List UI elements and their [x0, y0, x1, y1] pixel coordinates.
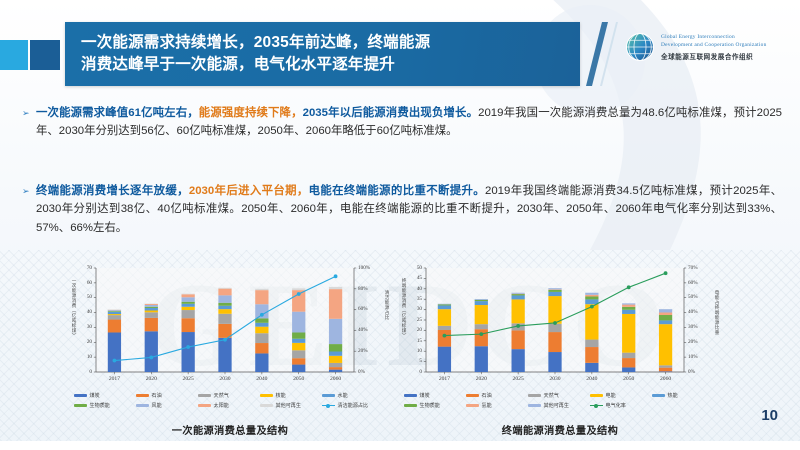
- legend-label: 电气化率: [606, 402, 626, 409]
- legend-swatch: [260, 394, 273, 397]
- legend-swatch: [136, 394, 149, 397]
- legend-label: 电能: [606, 392, 616, 399]
- x-axis-tick-label: 2017: [98, 376, 130, 382]
- y-axis-tick-label: 10: [400, 348, 422, 354]
- chart-plot-area: 051015202530354045500%10%20%30%40%50%60%…: [400, 262, 720, 387]
- footer-bar: [0, 441, 800, 450]
- bar-segment: [292, 339, 305, 343]
- bar-segment: [145, 318, 158, 331]
- bar-segment: [622, 303, 635, 304]
- line-marker: [260, 313, 264, 317]
- x-axis-tick-label: 2017: [428, 376, 460, 382]
- line-marker: [553, 321, 557, 325]
- y2-axis-tick-label: 40%: [688, 309, 708, 315]
- x-axis-tick-label: 2020: [465, 376, 497, 382]
- bar-segment: [475, 324, 488, 329]
- legend-label: 煤炭: [420, 392, 430, 399]
- bar-segment: [622, 353, 635, 358]
- legend-item[interactable]: 氢能: [466, 402, 528, 409]
- x-axis-tick-label: 2060: [320, 376, 352, 382]
- bar-segment: [622, 358, 635, 367]
- bar-segment: [145, 307, 158, 308]
- bar-segment: [329, 344, 342, 351]
- bar-segment: [438, 305, 451, 309]
- bar-segment: [292, 332, 305, 338]
- bar-segment: [622, 310, 635, 314]
- logo-english-line-1: Global Energy Interconnection: [661, 33, 767, 41]
- bar-segment: [108, 314, 121, 315]
- bar-segment: [145, 308, 158, 311]
- bar-segment: [512, 295, 525, 299]
- y-axis-tick-label: 50: [400, 265, 422, 271]
- bullet-arrow-icon: ➢: [22, 182, 36, 237]
- y-axis-tick-label: 10: [70, 354, 92, 360]
- bar-segment: [218, 303, 231, 306]
- line-marker: [443, 334, 447, 338]
- bar-segment: [329, 363, 342, 367]
- bar-segment: [438, 304, 451, 305]
- bar-segment: [218, 289, 231, 296]
- bar-segment: [585, 296, 598, 299]
- y2-axis-tick-label: 80%: [358, 286, 378, 292]
- bar-segment: [145, 305, 158, 307]
- y2-axis-tick-label: 60%: [688, 280, 708, 286]
- legend-label: 煤炭: [90, 392, 100, 399]
- y2-axis-tick-label: 70%: [688, 265, 708, 271]
- line-marker: [186, 345, 190, 349]
- legend-swatch: [198, 404, 211, 407]
- legend-swatch: [466, 404, 479, 407]
- header-accent-square-2: [30, 40, 60, 70]
- bar-segment: [182, 332, 195, 372]
- legend-swatch: [404, 404, 417, 407]
- bar-segment: [218, 324, 231, 338]
- bar-segment: [329, 367, 342, 370]
- bar-segment: [108, 311, 121, 312]
- legend-swatch: [528, 404, 541, 407]
- legend-item[interactable]: 其他可再生: [260, 402, 322, 409]
- chart-caption: 一次能源消费总量及结构: [70, 422, 390, 437]
- bar-segment: [659, 315, 672, 320]
- legend-label: 其他可再生: [276, 402, 301, 409]
- legend-item[interactable]: 水能: [322, 392, 384, 399]
- x-axis-tick-label: 2060: [650, 376, 682, 382]
- bar-segment: [585, 299, 598, 304]
- bar-segment: [182, 294, 195, 295]
- bar-segment: [145, 331, 158, 372]
- legend-swatch: [198, 394, 211, 397]
- legend-item-line[interactable]: 清洁能源占比: [322, 402, 384, 409]
- legend-item[interactable]: 天然气: [198, 392, 260, 399]
- x-axis-tick-label: 2025: [172, 376, 204, 382]
- bullet-2-segment-2: 2030年后进入平台期，: [189, 185, 309, 197]
- x-axis-tick-label: 2050: [283, 376, 315, 382]
- bar-segment: [182, 304, 195, 307]
- legend-item[interactable]: 热能: [652, 392, 714, 399]
- bar-segment: [659, 324, 672, 365]
- slide-root: GEIDCO 一次能源需求持续增长，2035年前达峰，终端能源 消费达峰早于一次…: [0, 0, 800, 450]
- bar-segment: [512, 293, 525, 294]
- chart-final-energy: 051015202530354045500%10%20%30%40%50%60%…: [400, 262, 720, 427]
- bar-segment: [585, 293, 598, 295]
- bar-segment: [292, 358, 305, 364]
- legend-label: 生物质能: [90, 402, 110, 409]
- line-marker: [149, 356, 153, 360]
- bar-segment: [329, 351, 342, 355]
- bar-segment: [218, 314, 231, 324]
- bar-segment: [548, 288, 561, 289]
- legend-label: 风能: [152, 402, 162, 409]
- bullet-2-segment-1: 终端能源消费增长逐年放缓，: [36, 185, 189, 197]
- bar-segment: [255, 289, 268, 290]
- chart-svg: [400, 262, 720, 387]
- bar-segment: [659, 309, 672, 312]
- legend-label: 水能: [338, 392, 348, 399]
- legend-swatch: [74, 394, 87, 397]
- legend-swatch: [260, 404, 273, 407]
- legend-swatch: [590, 394, 603, 397]
- legend-label: 清洁能源占比: [338, 402, 369, 409]
- y2-axis-tick-label: 100%: [358, 265, 378, 271]
- bullet-2-segment-3: 电能在终端能源的比重不断提升。: [309, 185, 485, 197]
- y2-axis-tick-label: 40%: [358, 327, 378, 333]
- bar-segment: [255, 323, 268, 327]
- page-number: 10: [761, 407, 778, 424]
- bar-segment: [512, 349, 525, 372]
- line-marker: [479, 332, 483, 336]
- bar-segment: [182, 318, 195, 332]
- bar-segment: [475, 346, 488, 372]
- chart-legend: 煤炭石油天然气核能水能生物质能风能太阳能其他可再生清洁能源占比: [74, 392, 386, 412]
- bar-segment: [182, 294, 195, 297]
- bar-segment: [548, 290, 561, 292]
- bullet-arrow-icon: ➢: [22, 104, 36, 141]
- line-marker: [590, 305, 594, 309]
- bar-segment: [585, 347, 598, 363]
- legend-swatch: [136, 404, 149, 407]
- bar-segment: [659, 313, 672, 315]
- bar-segment: [182, 297, 195, 301]
- bar-segment: [438, 326, 451, 330]
- legend-item[interactable]: 煤炭: [404, 392, 466, 399]
- y-axis-title: 一次能源消费（亿吨标煤）: [71, 278, 77, 338]
- legend-item[interactable]: 生物质能: [404, 402, 466, 409]
- y-axis-tick-label: 0: [400, 369, 422, 375]
- bar-segment: [475, 305, 488, 324]
- y2-axis-title: 电能占终端能源比重: [714, 290, 720, 335]
- bar-segment: [255, 290, 268, 304]
- chart-primary-energy: 0102030405060700%20%40%60%80%100%2017202…: [70, 262, 390, 427]
- legend-item[interactable]: 石油: [466, 392, 528, 399]
- bar-segment: [622, 307, 635, 310]
- slide-header: 一次能源需求持续增长，2035年前达峰，终端能源 消费达峰早于一次能源，电气化水…: [0, 10, 800, 90]
- logo-chinese-name: 全球能源互联网发展合作组织: [661, 51, 767, 61]
- bar-segment: [145, 310, 158, 312]
- x-axis-tick-label: 2040: [576, 376, 608, 382]
- bullet-1-text: 一次能源需求峰值61亿吨左右，能源强度持续下降，2035年以后能源消费出现负增长…: [36, 104, 782, 141]
- bar-segment: [585, 295, 598, 297]
- line-marker: [516, 324, 520, 328]
- bar-segment: [659, 320, 672, 324]
- y2-axis-tick-label: 0%: [358, 369, 378, 375]
- y2-axis-tick-label: 20%: [358, 348, 378, 354]
- bar-segment: [622, 314, 635, 353]
- legend-item[interactable]: 风能: [136, 402, 198, 409]
- bullet-paragraph-2: ➢ 终端能源消费增长逐年放缓，2030年后进入平台期，电能在终端能源的比重不断提…: [22, 182, 782, 237]
- bar-segment: [475, 329, 488, 346]
- legend-swatch: [466, 394, 479, 397]
- bar-segment: [585, 363, 598, 372]
- bar-segment: [292, 343, 305, 350]
- x-axis-tick-label: 2030: [539, 376, 571, 382]
- legend-label: 太阳能: [214, 402, 229, 409]
- legend-swatch: [74, 404, 87, 407]
- bar-segment: [475, 300, 488, 301]
- chart-caption: 终端能源消费总量及结构: [400, 422, 720, 437]
- y-axis-tick-label: 0: [70, 369, 92, 375]
- y2-axis-tick-label: 50%: [688, 294, 708, 300]
- bar-segment: [329, 356, 342, 363]
- legend-item[interactable]: 石油: [136, 392, 198, 399]
- legend-line-marker: [590, 404, 603, 407]
- bar-segment: [108, 312, 121, 314]
- legend-item-line[interactable]: 电气化率: [590, 402, 652, 409]
- x-axis-tick-label: 2050: [613, 376, 645, 382]
- bar-segment: [512, 330, 525, 349]
- legend-item[interactable]: 其他可再生: [528, 402, 590, 409]
- legend-item[interactable]: 太阳能: [198, 402, 260, 409]
- bar-segment: [329, 370, 342, 372]
- bar-segment: [548, 352, 561, 372]
- bar-segment: [622, 305, 635, 307]
- y-axis-title: 终端能源消费（亿吨标煤）: [401, 278, 407, 338]
- legend-item[interactable]: 煤炭: [74, 392, 136, 399]
- bar-segment: [475, 299, 488, 300]
- bar-segment: [585, 304, 598, 339]
- legend-label: 核能: [276, 392, 286, 399]
- header-accent-square-1: [0, 40, 28, 70]
- bullet-1-segment-1: 一次能源需求峰值61亿吨左右，: [36, 107, 199, 119]
- bar-segment: [182, 307, 195, 310]
- legend-label: 热能: [668, 392, 678, 399]
- bar-segment: [108, 332, 121, 372]
- bar-segment: [548, 292, 561, 296]
- legend-label: 其他可再生: [544, 402, 569, 409]
- bullet-paragraph-1: ➢ 一次能源需求峰值61亿吨左右，能源强度持续下降，2035年以后能源消费出现负…: [22, 104, 782, 141]
- bar-segment: [145, 312, 158, 318]
- title-slash-decoration: [578, 22, 618, 86]
- bar-segment: [475, 301, 488, 305]
- bullet-1-segment-2: 能源强度持续下降，: [199, 107, 303, 119]
- bar-segment: [218, 288, 231, 289]
- bar-segment: [255, 318, 268, 322]
- bar-segment: [292, 288, 305, 290]
- line-marker: [113, 359, 117, 363]
- legend-label: 石油: [152, 392, 162, 399]
- bar-segment: [108, 310, 121, 311]
- y-axis-tick-label: 20: [70, 339, 92, 345]
- bar-segment: [182, 310, 195, 318]
- bar-segment: [329, 289, 342, 319]
- bar-segment: [108, 315, 121, 319]
- bullet-1-segment-3: 2035年以后能源消费出现负增长。: [303, 107, 478, 119]
- legend-swatch: [652, 394, 665, 397]
- y2-axis-tick-label: 0%: [688, 369, 708, 375]
- legend-swatch: [322, 394, 335, 397]
- bar-segment: [659, 365, 672, 367]
- bar-segment: [659, 368, 672, 372]
- legend-item[interactable]: 生物质能: [74, 402, 136, 409]
- bar-segment: [108, 320, 121, 333]
- bar-segment: [585, 340, 598, 347]
- y-axis-tick-label: 5: [400, 358, 422, 364]
- legend-swatch: [404, 394, 417, 397]
- bar-segment: [292, 350, 305, 358]
- bullet-2-text: 终端能源消费增长逐年放缓，2030年后进入平台期，电能在终端能源的比重不断提升。…: [36, 182, 782, 237]
- bar-segment: [218, 338, 231, 372]
- chart-plot-area: 0102030405060700%20%40%60%80%100%2017202…: [70, 262, 390, 387]
- bar-segment: [512, 299, 525, 323]
- chart-legend: 煤炭石油天然气电能热能生物质能氢能其他可再生电气化率: [404, 392, 716, 412]
- bar-segment: [548, 324, 561, 332]
- slide-title-line-1: 一次能源需求持续增长，2035年前达峰，终端能源: [81, 32, 430, 54]
- y2-axis-tick-label: 30%: [688, 324, 708, 330]
- legend-label: 石油: [482, 392, 492, 399]
- y2-axis-tick-label: 20%: [688, 339, 708, 345]
- legend-item[interactable]: 电能: [590, 392, 652, 399]
- bar-segment: [292, 312, 305, 333]
- bar-segment: [182, 302, 195, 304]
- bar-segment: [145, 304, 158, 305]
- x-axis-tick-label: 2040: [246, 376, 278, 382]
- legend-label: 氢能: [482, 402, 492, 409]
- bar-segment: [622, 367, 635, 372]
- x-axis-tick-label: 2030: [209, 376, 241, 382]
- legend-item[interactable]: 核能: [260, 392, 322, 399]
- bar-segment: [438, 304, 451, 305]
- bar-segment: [218, 295, 231, 302]
- line-marker: [297, 292, 301, 296]
- y-axis-tick-label: 70: [70, 265, 92, 271]
- line-marker: [223, 338, 227, 342]
- bar-segment: [218, 306, 231, 309]
- y-axis-tick-label: 15: [400, 338, 422, 344]
- legend-label: 天然气: [214, 392, 229, 399]
- slide-title-bar: 一次能源需求持续增长，2035年前达峰，终端能源 消费达峰早于一次能源，电气化水…: [65, 22, 580, 86]
- organization-logo: Global Energy Interconnection Developmen…: [625, 24, 795, 70]
- legend-item[interactable]: 天然气: [528, 392, 590, 399]
- bar-segment: [512, 294, 525, 295]
- globe-icon: [625, 32, 655, 62]
- bar-segment: [255, 343, 268, 353]
- bar-segment: [329, 287, 342, 289]
- bar-segment: [255, 353, 268, 372]
- x-axis-tick-label: 2025: [502, 376, 534, 382]
- bar-segment: [218, 309, 231, 314]
- chart-svg: [70, 262, 390, 387]
- bar-segment: [548, 332, 561, 352]
- line-marker: [664, 271, 668, 275]
- bar-segment: [438, 309, 451, 326]
- legend-label: 生物质能: [420, 402, 440, 409]
- legend-swatch: [528, 394, 541, 397]
- legend-line-marker: [322, 404, 335, 407]
- bar-segment: [329, 319, 342, 344]
- x-axis-tick-label: 2020: [135, 376, 167, 382]
- y2-axis-tick-label: 60%: [358, 306, 378, 312]
- line-marker: [334, 274, 338, 278]
- bar-segment: [659, 371, 672, 372]
- bar-segment: [255, 333, 268, 343]
- bar-segment: [548, 296, 561, 324]
- logo-english-line-2: Development and Cooperation Organization: [661, 41, 767, 49]
- y2-axis-title: 清洁能源占比: [384, 290, 390, 320]
- bar-segment: [438, 330, 451, 347]
- legend-label: 天然气: [544, 392, 559, 399]
- bar-segment: [438, 347, 451, 372]
- y2-axis-tick-label: 10%: [688, 354, 708, 360]
- bar-segment: [255, 327, 268, 334]
- bar-segment: [292, 365, 305, 372]
- line-marker: [627, 285, 631, 289]
- slide-title-line-2: 消费达峰早于一次能源，电气化水平逐年提升: [81, 54, 430, 76]
